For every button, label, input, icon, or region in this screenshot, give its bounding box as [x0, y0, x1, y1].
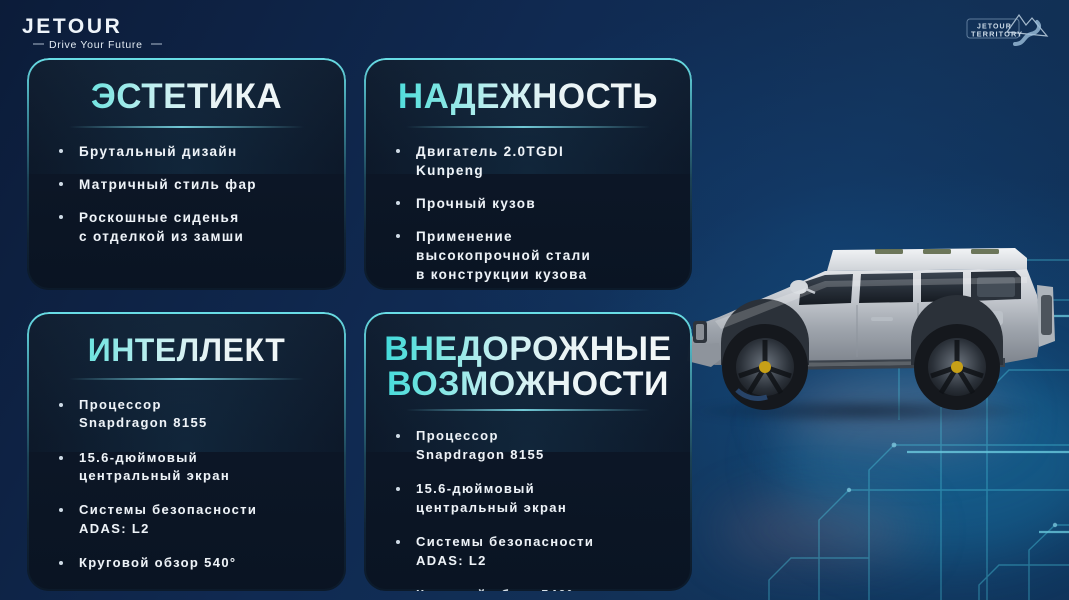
glow-blob-cyan	[779, 360, 1069, 560]
bullet-list-aesthetics: Брутальный дизайн Матричный стиль фар Ро…	[45, 142, 328, 247]
feature-card-grid: ЭСТЕТИКА Брутальный дизайн Матричный сти…	[27, 58, 692, 591]
list-item: Процессор Snapdragon 8155	[45, 396, 328, 433]
list-item: Матричный стиль фар	[45, 175, 328, 194]
list-item: 15.6-дюймовый центральный экран	[382, 480, 674, 517]
front-wheel	[722, 324, 808, 410]
card-title-reliability: НАДЕЖНОСТЬ	[382, 79, 674, 115]
title-divider	[406, 126, 650, 128]
list-item: Двигатель 2.0TGDI Kunpeng	[382, 142, 674, 180]
side-mirror	[790, 280, 815, 294]
list-item: Брутальный дизайн	[45, 142, 328, 161]
brand-tagline-text: Drive Your Future	[49, 39, 143, 51]
brand-wordmark-text: JETOUR	[22, 15, 122, 38]
vehicle-illustration	[675, 225, 1069, 440]
slide-root: JETOUR Drive Your Future JETOUR TERRITOR…	[0, 0, 1069, 600]
title-divider	[406, 409, 650, 411]
list-item: Применение высокопрочной стали в констру…	[382, 227, 674, 284]
glow-blob-rose-lower	[719, 500, 919, 560]
list-item: Круговой обзор 540°	[45, 554, 328, 572]
list-item: 15.6-дюймовый центральный экран	[45, 449, 328, 486]
list-item: Круговой обзор 540°	[382, 586, 674, 591]
bullet-list-reliability: Двигатель 2.0TGDI Kunpeng Прочный кузов …	[382, 142, 674, 285]
glow-blob-rose-upper	[779, 380, 1009, 450]
feature-card-aesthetics[interactable]: ЭСТЕТИКА Брутальный дизайн Матричный сти…	[27, 58, 346, 290]
vehicle-shadow	[689, 398, 1039, 424]
card-title-intellect: ИНТЕЛЛЕКТ	[45, 334, 328, 367]
list-item: Процессор Snapdragon 8155	[382, 427, 674, 464]
feature-card-intellect[interactable]: ИНТЕЛЛЕКТ Процессор Snapdragon 8155 15.6…	[27, 312, 346, 591]
card-title-offroad: ВНЕДОРОЖНЫЕ ВОЗМОЖНОСТИ	[382, 332, 674, 401]
title-divider	[69, 378, 304, 380]
title-divider	[69, 126, 304, 128]
feature-card-reliability[interactable]: НАДЕЖНОСТЬ Двигатель 2.0TGDI Kunpeng Про…	[364, 58, 692, 290]
card-title-aesthetics: ЭСТЕТИКА	[45, 79, 328, 115]
bullet-list-offroad: Процессор Snapdragon 8155 15.6-дюймовый …	[382, 427, 674, 591]
list-item: Роскошные сиденья с отделкой из замши	[45, 208, 328, 246]
badge-line2-text: TERRITORY	[971, 30, 1023, 39]
rear-wheel	[914, 324, 1000, 410]
jetour-territory-badge: JETOUR TERRITORY	[963, 6, 1055, 50]
feature-card-offroad[interactable]: ВНЕДОРОЖНЫЕ ВОЗМОЖНОСТИ Процессор Snapdr…	[364, 312, 692, 591]
list-item: Системы безопасности ADAS: L2	[45, 501, 328, 538]
jetour-logo: JETOUR Drive Your Future	[20, 10, 180, 54]
bullet-list-intellect: Процессор Snapdragon 8155 15.6-дюймовый …	[45, 396, 328, 573]
list-item: Прочный кузов	[382, 194, 674, 213]
list-item: Системы безопасности ADAS: L2	[382, 533, 674, 570]
